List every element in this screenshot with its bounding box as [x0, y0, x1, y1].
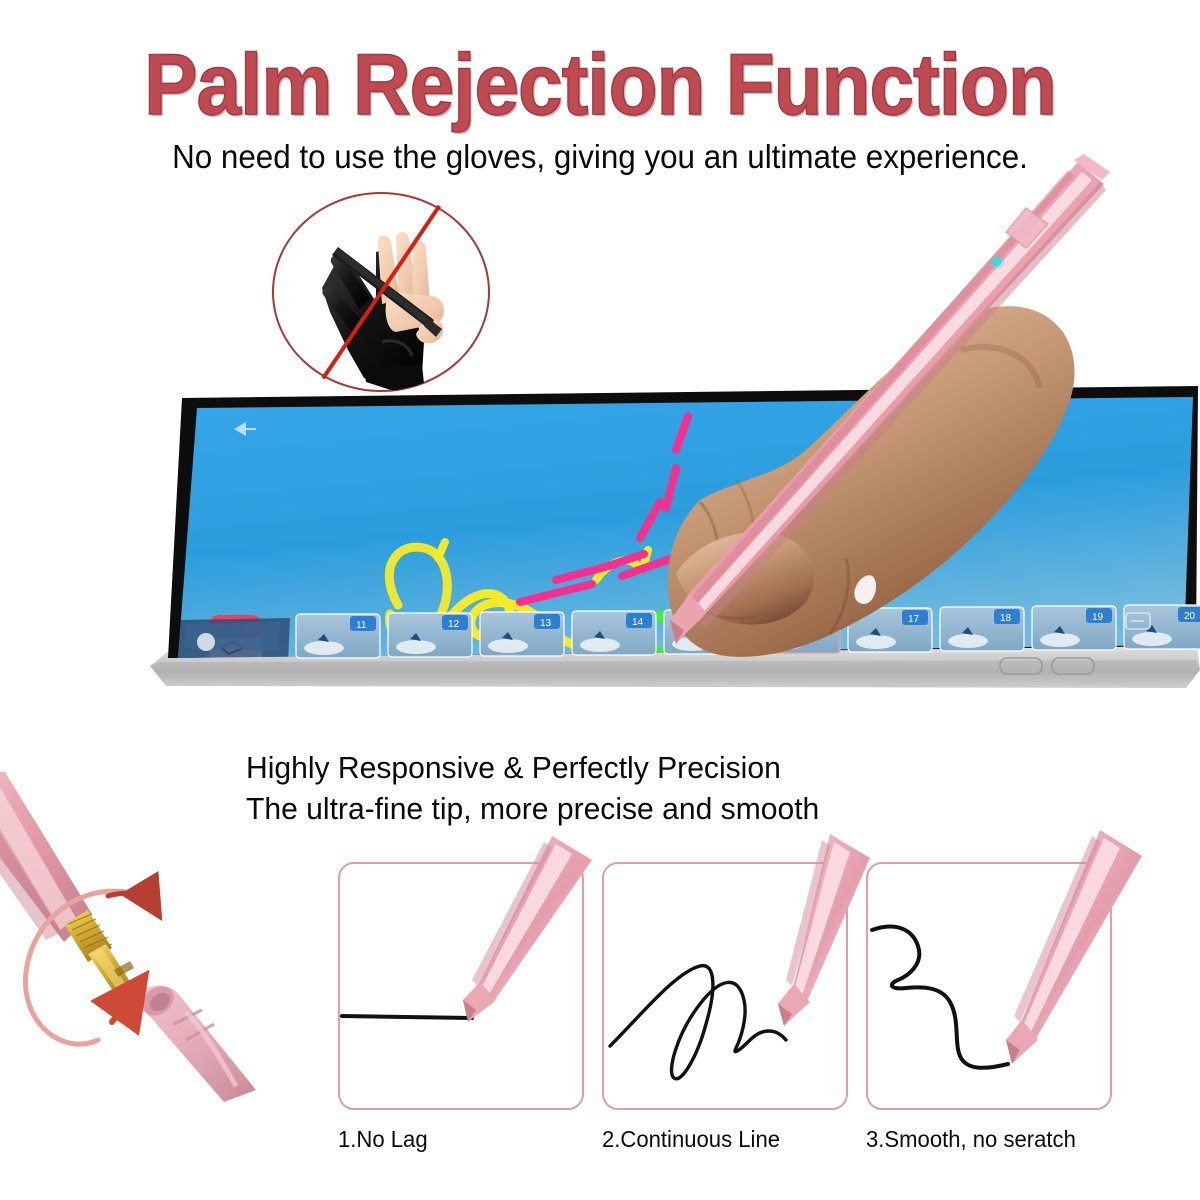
feature-panel-1: 1.No Lag [338, 862, 584, 1154]
svg-text:19: 19 [1092, 612, 1104, 623]
precision-line-1: Highly Responsive & Perfectly Precision [246, 748, 819, 789]
panel-2-frame [602, 862, 848, 1110]
feature-panel-3: 3.Smooth, no seratch [866, 862, 1112, 1154]
svg-text:12: 12 [448, 619, 460, 630]
svg-text:11: 11 [356, 620, 367, 631]
panel-1-frame [338, 862, 584, 1110]
panel-2-caption: 2.Continuous Line [602, 1126, 838, 1153]
precision-text-block: Highly Responsive & Perfectly Precision … [246, 748, 819, 830]
smooth-no-scratch-illustration [868, 864, 1114, 1112]
no-lag-illustration [340, 864, 586, 1112]
page-title: Palm Rejection Function [42, 42, 1158, 128]
product-feature-graphic: Palm Rejection Function No need to use t… [0, 0, 1200, 1200]
continuous-line-illustration [604, 864, 850, 1112]
svg-text:14: 14 [632, 617, 644, 628]
panel-3-frame [866, 862, 1112, 1110]
replacement-nib [137, 980, 256, 1102]
svg-text:T: T [224, 697, 236, 710]
feature-panels: 1.No Lag [338, 862, 1110, 1154]
svg-text:13: 13 [540, 618, 552, 629]
panel-3-caption: 3.Smooth, no seratch [866, 1126, 1102, 1153]
svg-text:18: 18 [1000, 613, 1012, 624]
precision-line-2: The ultra-fine tip, more precise and smo… [246, 789, 819, 830]
tablet-drawing-scene: T [0, 150, 1200, 710]
feature-panel-2: 2.Continuous Line [602, 862, 848, 1154]
panel-1-caption: 1.No Lag [338, 1126, 574, 1153]
replaceable-tip-graphic [0, 772, 318, 1102]
svg-text:20: 20 [1184, 611, 1196, 622]
svg-text:17: 17 [908, 614, 920, 625]
